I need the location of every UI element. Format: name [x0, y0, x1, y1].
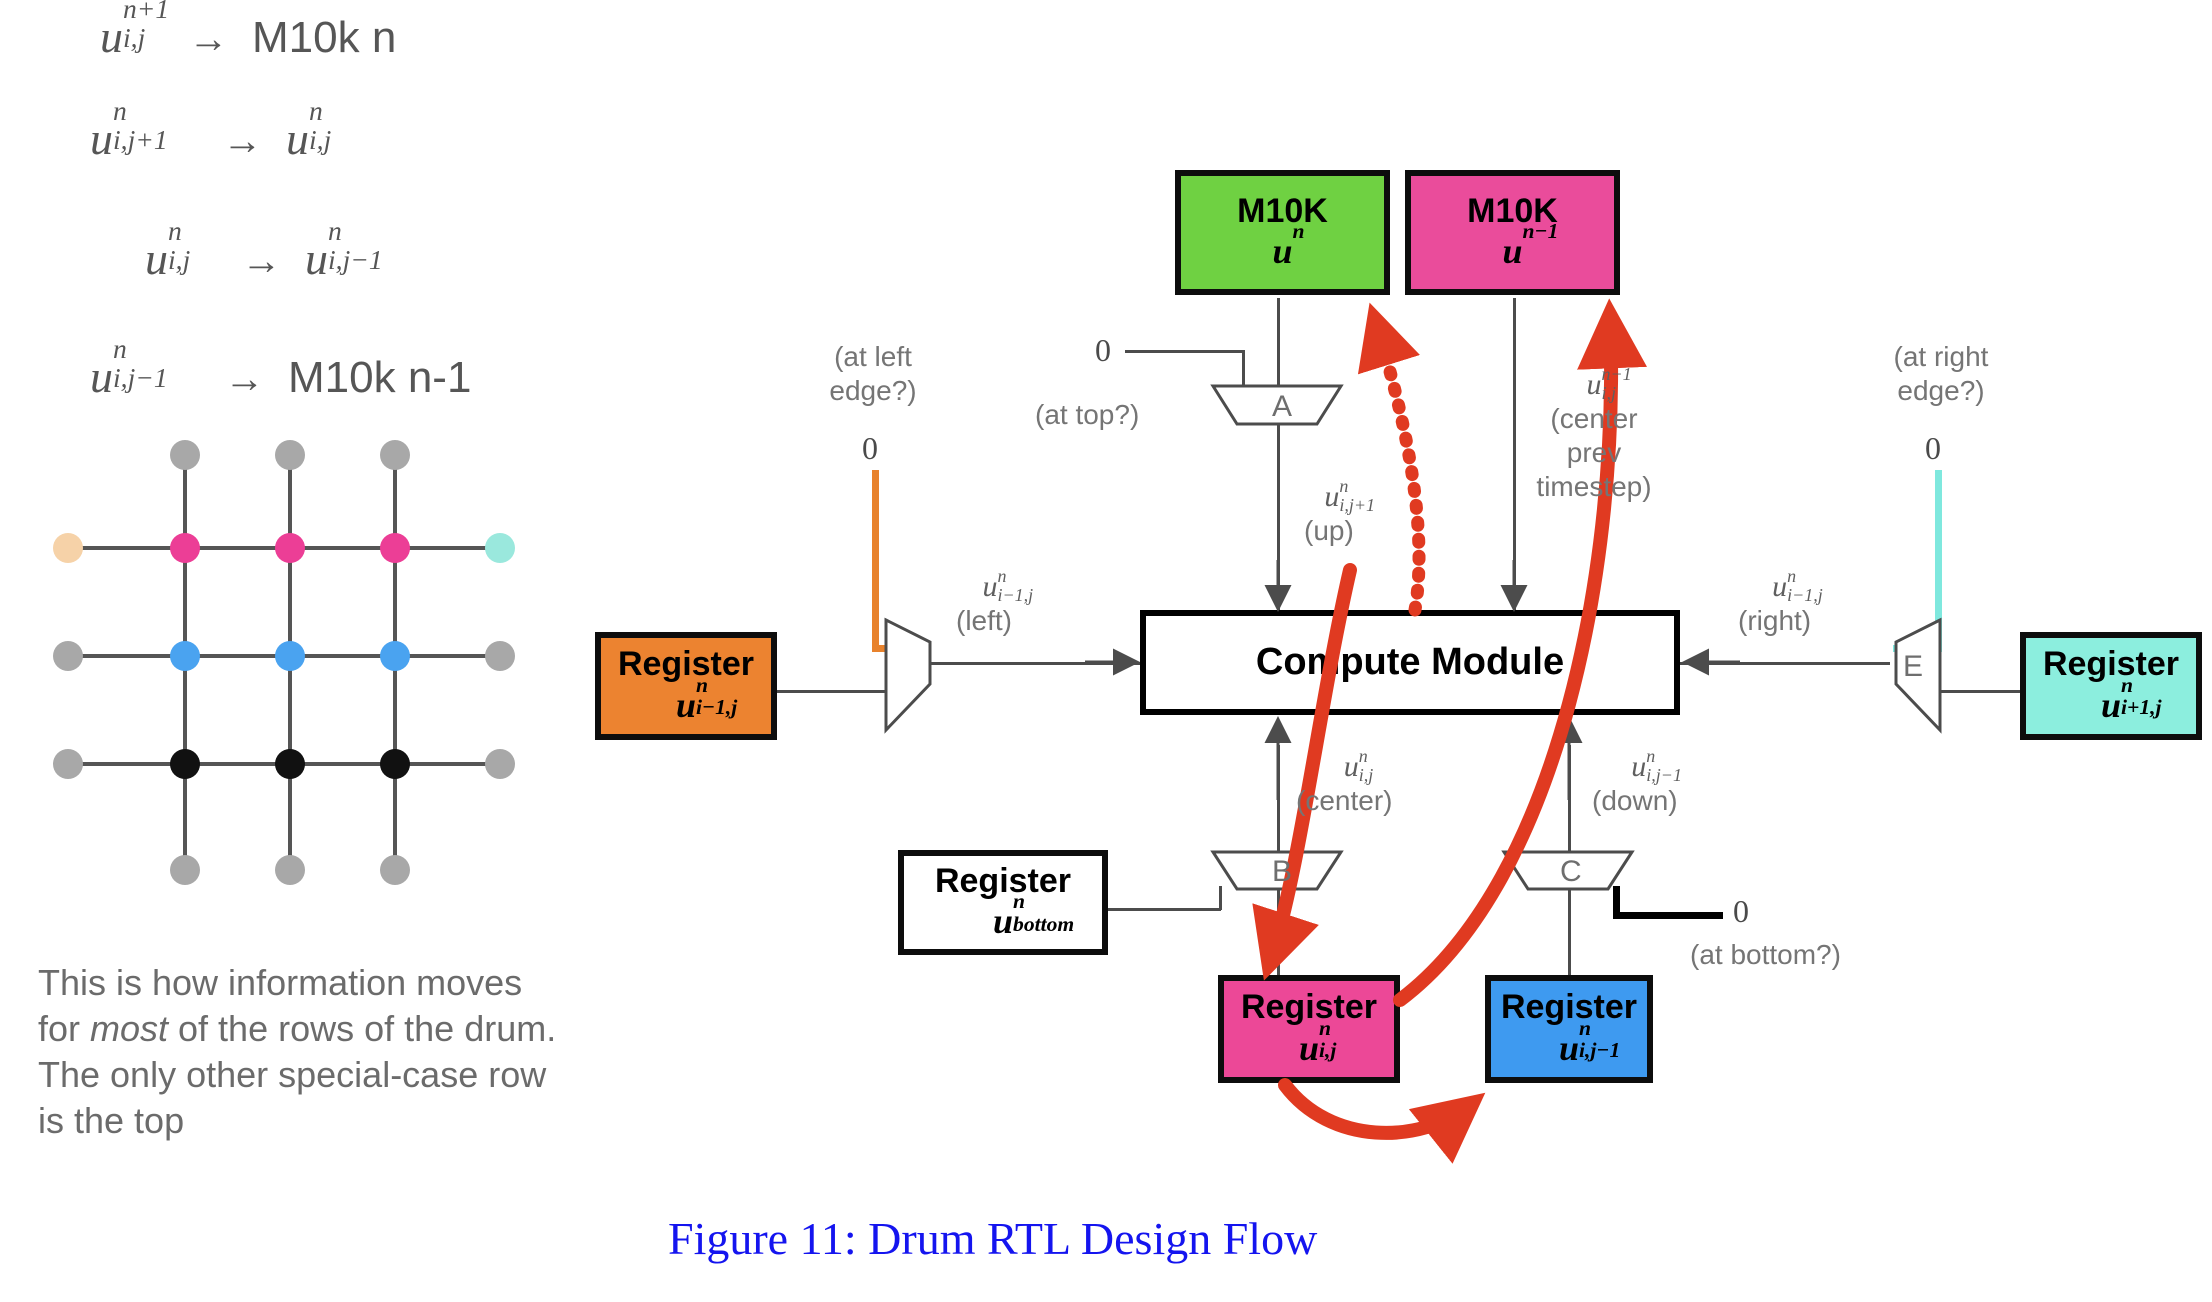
- wire-m10k-un-to-muxa: [1277, 298, 1280, 386]
- const-at-top-question: (at top?): [1035, 398, 1139, 432]
- m10k-un-title: M10K: [1237, 194, 1328, 230]
- m10k-un1-box[interactable]: M10K u n−1: [1405, 170, 1620, 295]
- equation-3: u n i,j → u n i,j−1: [145, 232, 328, 285]
- equation-2-arrow: →: [211, 119, 275, 163]
- equation-3-arrow: →: [230, 239, 294, 283]
- lattice-node-bottom-stub-2: [275, 855, 305, 885]
- equation-4: u n i,j−1 → M10k n-1: [90, 350, 471, 403]
- lattice-node-row3-c3: [380, 749, 410, 779]
- signal-center-prev-desc: (center prev timestep): [1536, 403, 1651, 502]
- red-dotted-arrow-to-m10k-un: [1375, 320, 1419, 610]
- lattice-node-top-stub-3: [380, 440, 410, 470]
- figure-canvas: u n+1 i,j → M10k n u n i,j+1 → u n i,j u…: [0, 0, 2212, 1302]
- register-left-title: Register: [618, 647, 754, 683]
- signal-right-label: u n i−1,j (right): [1748, 570, 1811, 638]
- lattice-node-row2-right-end: [485, 641, 515, 671]
- lattice-node-top-stub-2: [275, 440, 305, 470]
- lattice-node-row3-left-end: [53, 749, 83, 779]
- signal-left-label: u n i−1,j (left): [968, 570, 1012, 638]
- equation-2-rhs: u n i,j: [286, 112, 309, 165]
- equation-3-lhs: u n i,j: [145, 232, 168, 285]
- mux-a-label: A: [1272, 390, 1292, 424]
- equation-4-lhs: u n i,j−1: [90, 350, 113, 403]
- register-center-symbol: u n i,j: [1299, 1030, 1319, 1068]
- register-right-title: Register: [2043, 647, 2179, 683]
- compute-module-label: Compute Module: [1256, 641, 1564, 684]
- m10k-un1-symbol: u n−1: [1502, 233, 1522, 271]
- red-arrow-center-to-down: [1285, 1085, 1470, 1133]
- lattice-node-row1-c2: [275, 533, 305, 563]
- lattice-node-bottom-stub-1: [170, 855, 200, 885]
- lattice-node-row2-c2: [275, 641, 305, 671]
- wire-regleft-to-muxd: [775, 690, 885, 693]
- note-emphasis: most: [90, 1008, 168, 1049]
- register-left-box[interactable]: Register u n i−1,j: [595, 632, 777, 740]
- wire-m10k-un1-to-compute: [1513, 298, 1516, 614]
- const-at-top-value: 0: [1095, 332, 1111, 369]
- const-at-bottom-question: (at bottom?): [1690, 938, 1841, 972]
- register-left-symbol: u n i−1,j: [676, 687, 696, 725]
- wire-orange-into-mux: [872, 645, 916, 652]
- m10k-un-symbol: u n: [1272, 233, 1292, 271]
- wire-down-into-compute: [1568, 745, 1571, 855]
- equation-4-rhs: M10k n-1: [288, 353, 471, 402]
- register-bottom-store-symbol: u n bottom: [993, 903, 1013, 941]
- wire-cyan-down: [1935, 470, 1942, 652]
- lattice-node-row1-right-end: [485, 533, 515, 563]
- equation-4-arrow: →: [213, 357, 277, 401]
- register-down-box[interactable]: Register u n i,j−1: [1485, 975, 1653, 1083]
- lattice-node-row2-c3: [380, 641, 410, 671]
- equation-1-arrow: →: [177, 17, 241, 61]
- compute-module-box[interactable]: Compute Module: [1140, 610, 1680, 715]
- const-at-left-edge-value: 0: [862, 430, 878, 467]
- const-at-bottom-value: 0: [1733, 893, 1749, 930]
- register-bottom-store-box[interactable]: Register u n bottom: [898, 850, 1108, 955]
- wire-const-bottom-h: [1613, 912, 1723, 919]
- equation-2: u n i,j+1 → u n i,j: [90, 112, 309, 165]
- register-down-symbol: u n i,j−1: [1559, 1030, 1579, 1068]
- register-right-box[interactable]: Register u n i+1,j: [2020, 632, 2202, 740]
- signal-center-label: u n i,j (center): [1310, 750, 1392, 818]
- lattice-node-row3-c2: [275, 749, 305, 779]
- wire-regbottom-to-muxb-v: [1219, 886, 1222, 910]
- register-center-title: Register: [1241, 990, 1377, 1026]
- lattice-node-row3-c1: [170, 749, 200, 779]
- lattice-node-row3-right-end: [485, 749, 515, 779]
- const-at-right-edge-value: 0: [1925, 430, 1941, 467]
- register-center-box[interactable]: Register u n i,j: [1218, 975, 1400, 1083]
- mux-b-label: B: [1272, 855, 1292, 889]
- lattice-node-bottom-stub-3: [380, 855, 410, 885]
- register-right-symbol: u n i+1,j: [2101, 687, 2121, 725]
- figure-caption: Figure 11: Drum RTL Design Flow: [668, 1212, 1317, 1265]
- equation-1-rhs: M10k n: [252, 13, 396, 62]
- wire-orange-down: [872, 470, 879, 652]
- wire-muxb-out: [1277, 888, 1280, 978]
- wire-center-into-compute: [1277, 745, 1280, 855]
- const-at-right-edge-question: (at right edge?): [1882, 340, 2000, 408]
- wire-compute-to-muxe: [1680, 662, 1890, 665]
- wire-muxe-to-regright: [1936, 690, 2024, 693]
- mux-c-label: C: [1560, 855, 1582, 889]
- const-at-left-edge-question: (at left edge?): [818, 340, 928, 408]
- equation-1-lhs: u n+1 i,j: [100, 10, 123, 63]
- lattice-node-row1-c3: [380, 533, 410, 563]
- wire-muxd-to-compute: [930, 662, 1140, 665]
- lattice-node-top-stub-1: [170, 440, 200, 470]
- note-paragraph: This is how information moves for most o…: [38, 960, 558, 1144]
- register-down-title: Register: [1501, 990, 1637, 1026]
- lattice-node-row1-c1: [170, 533, 200, 563]
- mux-e-label: E: [1903, 650, 1923, 684]
- mux-d-shape[interactable]: [886, 620, 930, 730]
- register-bottom-store-title: Register: [935, 864, 1071, 900]
- signal-center-desc: (center): [1296, 785, 1392, 816]
- wire-const-top-v: [1242, 350, 1245, 388]
- equation-3-rhs: u n i,j−1: [305, 232, 328, 285]
- equation-1: u n+1 i,j → M10k n: [100, 10, 396, 63]
- wire-const-top-h: [1125, 350, 1245, 353]
- lattice-node-row1-left-end: [53, 533, 83, 563]
- signal-down-label: u n i,j−1 (down): [1600, 750, 1678, 818]
- signal-center-prev-label: u n−1 i,j (center prev timestep): [1530, 368, 1658, 504]
- wire-muxa-out: [1277, 424, 1280, 612]
- lattice-node-row2-c1: [170, 641, 200, 671]
- signal-up-label: u n i,j+1 (up): [1310, 480, 1354, 548]
- m10k-un-box[interactable]: M10K u n: [1175, 170, 1390, 295]
- lattice-node-row2-left-end: [53, 641, 83, 671]
- wire-muxc-out: [1568, 888, 1571, 978]
- equation-2-lhs: u n i,j+1: [90, 112, 113, 165]
